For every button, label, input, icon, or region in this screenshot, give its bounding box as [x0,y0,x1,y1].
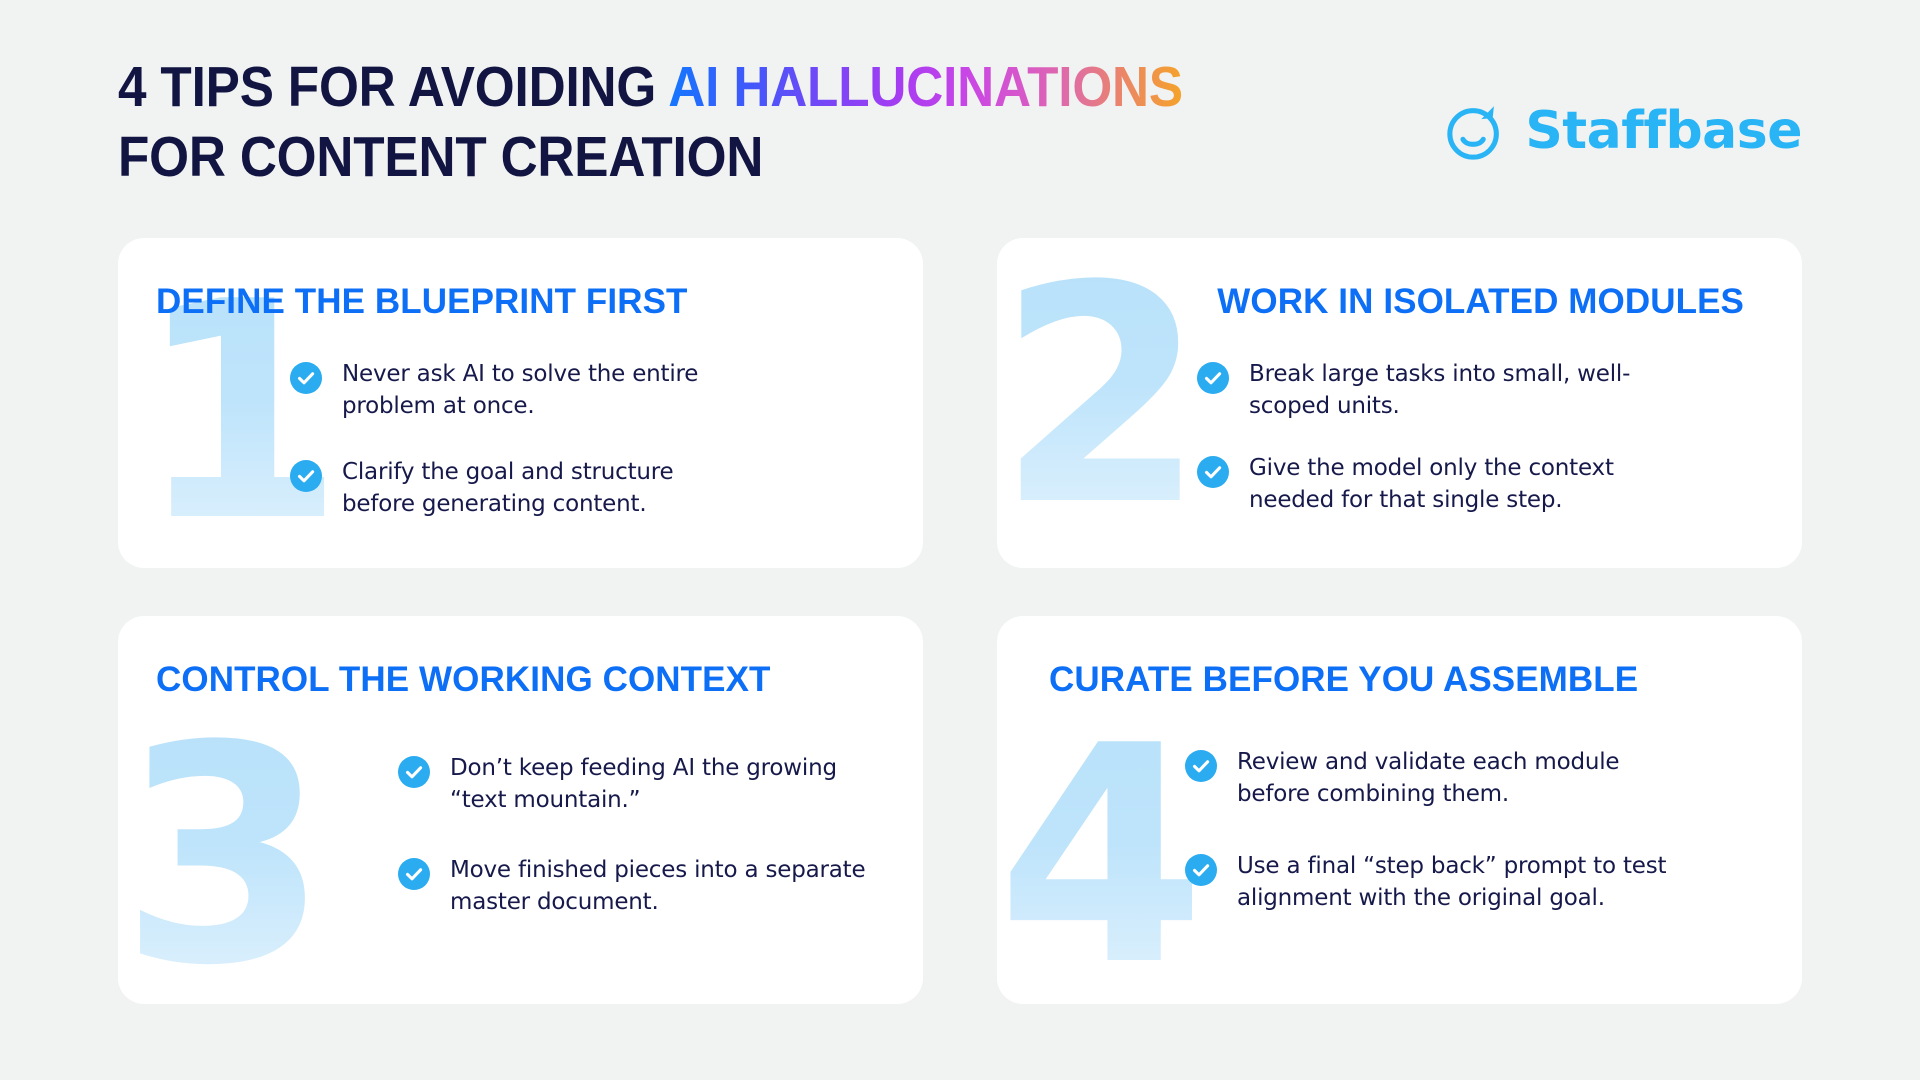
list-item: Use a final “step back” prompt to test a… [1185,850,1685,914]
tip-heading-1: DEFINE THE BLUEPRINT FIRST [156,282,923,322]
tip-heading-4: CURATE BEFORE YOU ASSEMBLE [1049,660,1802,700]
check-circle-icon [398,858,430,890]
tip-bullets-2: Break large tasks into small, well-scope… [1197,358,1645,516]
list-item-text: Break large tasks into small, well-scope… [1249,358,1645,422]
tip-card-2: 2 WORK IN ISOLATED MODULES Break large t… [997,238,1802,568]
check-circle-icon [1185,750,1217,782]
page-title: 4 TIPS FOR AVOIDING AI HALLUCINATIONS FO… [118,52,1634,192]
list-item-text: Never ask AI to solve the entire problem… [342,358,720,422]
page-title-plain: 4 TIPS FOR AVOIDING [118,55,668,119]
tip-number-3: 3 [120,734,329,980]
check-circle-icon [1185,854,1217,886]
list-item: Move finished pieces into a separate mas… [398,854,868,918]
tip-heading-3: CONTROL THE WORKING CONTEXT [156,660,923,700]
infographic-page: 4 TIPS FOR AVOIDING AI HALLUCINATIONS FO… [0,0,1920,1080]
page-title-line2: FOR CONTENT CREATION [118,125,763,189]
list-item: Never ask AI to solve the entire problem… [290,358,720,422]
list-item-text: Move finished pieces into a separate mas… [450,854,868,918]
check-circle-icon [1197,362,1229,394]
check-circle-icon [1197,456,1229,488]
list-item: Give the model only the context needed f… [1197,452,1645,516]
staffbase-smiley-icon [1445,100,1507,162]
tip-bullets-1: Never ask AI to solve the entire problem… [290,358,720,520]
brand-logo: Staffbase [1445,100,1802,162]
list-item-text: Use a final “step back” prompt to test a… [1237,850,1685,914]
page-title-gradient: AI HALLUCINATIONS [668,55,1183,119]
list-item-text: Give the model only the context needed f… [1249,452,1645,516]
tip-bullets-4: Review and validate each module before c… [1185,746,1685,914]
list-item: Break large tasks into small, well-scope… [1197,358,1645,422]
list-item: Clarify the goal and structure before ge… [290,456,720,520]
check-circle-icon [290,362,322,394]
tip-card-3: 3 CONTROL THE WORKING CONTEXT Don’t keep… [118,616,923,1004]
list-item-text: Don’t keep feeding AI the growing “text … [450,752,868,816]
tip-number-4: 4 [997,734,1206,980]
check-circle-icon [290,460,322,492]
check-circle-icon [398,756,430,788]
brand-name: Staffbase [1525,105,1802,157]
tip-card-4: 4 CURATE BEFORE YOU ASSEMBLE Review and … [997,616,1802,1004]
list-item-text: Review and validate each module before c… [1237,746,1685,810]
list-item: Don’t keep feeding AI the growing “text … [398,752,868,816]
tip-card-1: 1 DEFINE THE BLUEPRINT FIRST Never ask A… [118,238,923,568]
list-item: Review and validate each module before c… [1185,746,1685,810]
tips-grid: 1 DEFINE THE BLUEPRINT FIRST Never ask A… [118,238,1802,1004]
tip-bullets-3: Don’t keep feeding AI the growing “text … [398,752,868,918]
list-item-text: Clarify the goal and structure before ge… [342,456,720,520]
tip-heading-2: WORK IN ISOLATED MODULES [997,282,1744,322]
